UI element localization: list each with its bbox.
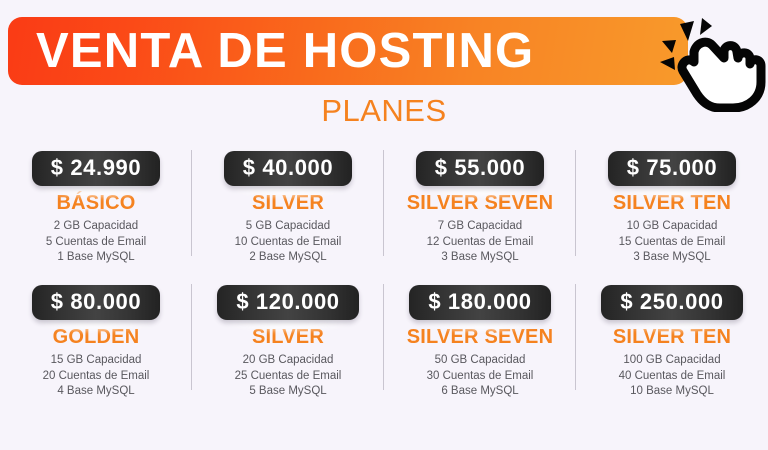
plan-features: 20 GB Capacidad 25 Cuentas de Email 5 Ba… bbox=[192, 353, 384, 400]
plan-features: 7 GB Capacidad 12 Cuentas de Email 3 Bas… bbox=[384, 219, 576, 266]
plan-feature: 25 Cuentas de Email bbox=[192, 369, 384, 385]
price-badge-shell: $ 40.000 bbox=[224, 151, 352, 186]
price-badge-shell: $ 120.000 bbox=[217, 285, 358, 320]
plan-feature: 30 Cuentas de Email bbox=[384, 369, 576, 385]
plan-feature: 6 Base MySQL bbox=[384, 384, 576, 400]
plan-feature: 3 Base MySQL bbox=[576, 250, 768, 266]
price-badge: $ 180.000 bbox=[409, 285, 550, 320]
plan-feature: 7 GB Capacidad bbox=[384, 219, 576, 235]
price-badge-shell: $ 80.000 bbox=[32, 285, 160, 320]
plan-feature: 10 GB Capacidad bbox=[576, 219, 768, 235]
plan-feature: 4 Base MySQL bbox=[0, 384, 192, 400]
price-badge-shell: $ 250.000 bbox=[601, 285, 742, 320]
plan-card[interactable]: $ 120.000 SILVER 20 GB Capacidad 25 Cuen… bbox=[192, 280, 384, 414]
price-badge-shell: $ 180.000 bbox=[409, 285, 550, 320]
plan-feature: 3 Base MySQL bbox=[384, 250, 576, 266]
price-badge: $ 55.000 bbox=[416, 151, 544, 186]
price-badge: $ 24.990 bbox=[32, 151, 160, 186]
plan-feature: 5 Cuentas de Email bbox=[0, 235, 192, 251]
plan-feature: 2 GB Capacidad bbox=[0, 219, 192, 235]
hosting-promo-page: VENTA DE HOSTING PLANES $ 24.990 BÁSICO … bbox=[0, 0, 768, 450]
plan-feature: 15 Cuentas de Email bbox=[576, 235, 768, 251]
price-badge-shell: $ 75.000 bbox=[608, 151, 736, 186]
plan-feature: 40 Cuentas de Email bbox=[576, 369, 768, 385]
plan-card[interactable]: $ 40.000 SILVER 5 GB Capacidad 10 Cuenta… bbox=[192, 146, 384, 280]
plan-feature: 5 Base MySQL bbox=[192, 384, 384, 400]
price-badge: $ 250.000 bbox=[601, 285, 742, 320]
plan-feature: 12 Cuentas de Email bbox=[384, 235, 576, 251]
price-badge: $ 80.000 bbox=[32, 285, 160, 320]
plan-features: 2 GB Capacidad 5 Cuentas de Email 1 Base… bbox=[0, 219, 192, 266]
plan-card[interactable]: $ 55.000 SILVER SEVEN 7 GB Capacidad 12 … bbox=[384, 146, 576, 280]
plan-feature: 100 GB Capacidad bbox=[576, 353, 768, 369]
plan-card[interactable]: $ 250.000 SILVER TEN 100 GB Capacidad 40… bbox=[576, 280, 768, 414]
plan-features: 100 GB Capacidad 40 Cuentas de Email 10 … bbox=[576, 353, 768, 400]
plan-features: 5 GB Capacidad 10 Cuentas de Email 2 Bas… bbox=[192, 219, 384, 266]
plans-grid: $ 24.990 BÁSICO 2 GB Capacidad 5 Cuentas… bbox=[0, 146, 768, 414]
plan-features: 50 GB Capacidad 30 Cuentas de Email 6 Ba… bbox=[384, 353, 576, 400]
plan-feature: 20 GB Capacidad bbox=[192, 353, 384, 369]
price-badge: $ 120.000 bbox=[217, 285, 358, 320]
plan-features: 15 GB Capacidad 20 Cuentas de Email 4 Ba… bbox=[0, 353, 192, 400]
plan-feature: 10 Base MySQL bbox=[576, 384, 768, 400]
plan-feature: 15 GB Capacidad bbox=[0, 353, 192, 369]
plan-feature: 2 Base MySQL bbox=[192, 250, 384, 266]
price-badge: $ 40.000 bbox=[224, 151, 352, 186]
plan-feature: 5 GB Capacidad bbox=[192, 219, 384, 235]
banner-bar: VENTA DE HOSTING bbox=[8, 17, 688, 85]
plan-feature: 20 Cuentas de Email bbox=[0, 369, 192, 385]
price-badge-shell: $ 24.990 bbox=[32, 151, 160, 186]
plan-features: 10 GB Capacidad 15 Cuentas de Email 3 Ba… bbox=[576, 219, 768, 266]
header-banner: VENTA DE HOSTING bbox=[0, 0, 768, 100]
plan-card[interactable]: $ 75.000 SILVER TEN 10 GB Capacidad 15 C… bbox=[576, 146, 768, 280]
price-badge: $ 75.000 bbox=[608, 151, 736, 186]
subtitle-planes: PLANES bbox=[0, 94, 768, 128]
price-badge-shell: $ 55.000 bbox=[416, 151, 544, 186]
plan-card[interactable]: $ 180.000 SILVER SEVEN 50 GB Capacidad 3… bbox=[384, 280, 576, 414]
plan-card[interactable]: $ 24.990 BÁSICO 2 GB Capacidad 5 Cuentas… bbox=[0, 146, 192, 280]
plan-feature: 1 Base MySQL bbox=[0, 250, 192, 266]
plan-feature: 50 GB Capacidad bbox=[384, 353, 576, 369]
plan-card[interactable]: $ 80.000 GOLDEN 15 GB Capacidad 20 Cuent… bbox=[0, 280, 192, 414]
banner-title: VENTA DE HOSTING bbox=[36, 27, 534, 76]
plan-feature: 10 Cuentas de Email bbox=[192, 235, 384, 251]
